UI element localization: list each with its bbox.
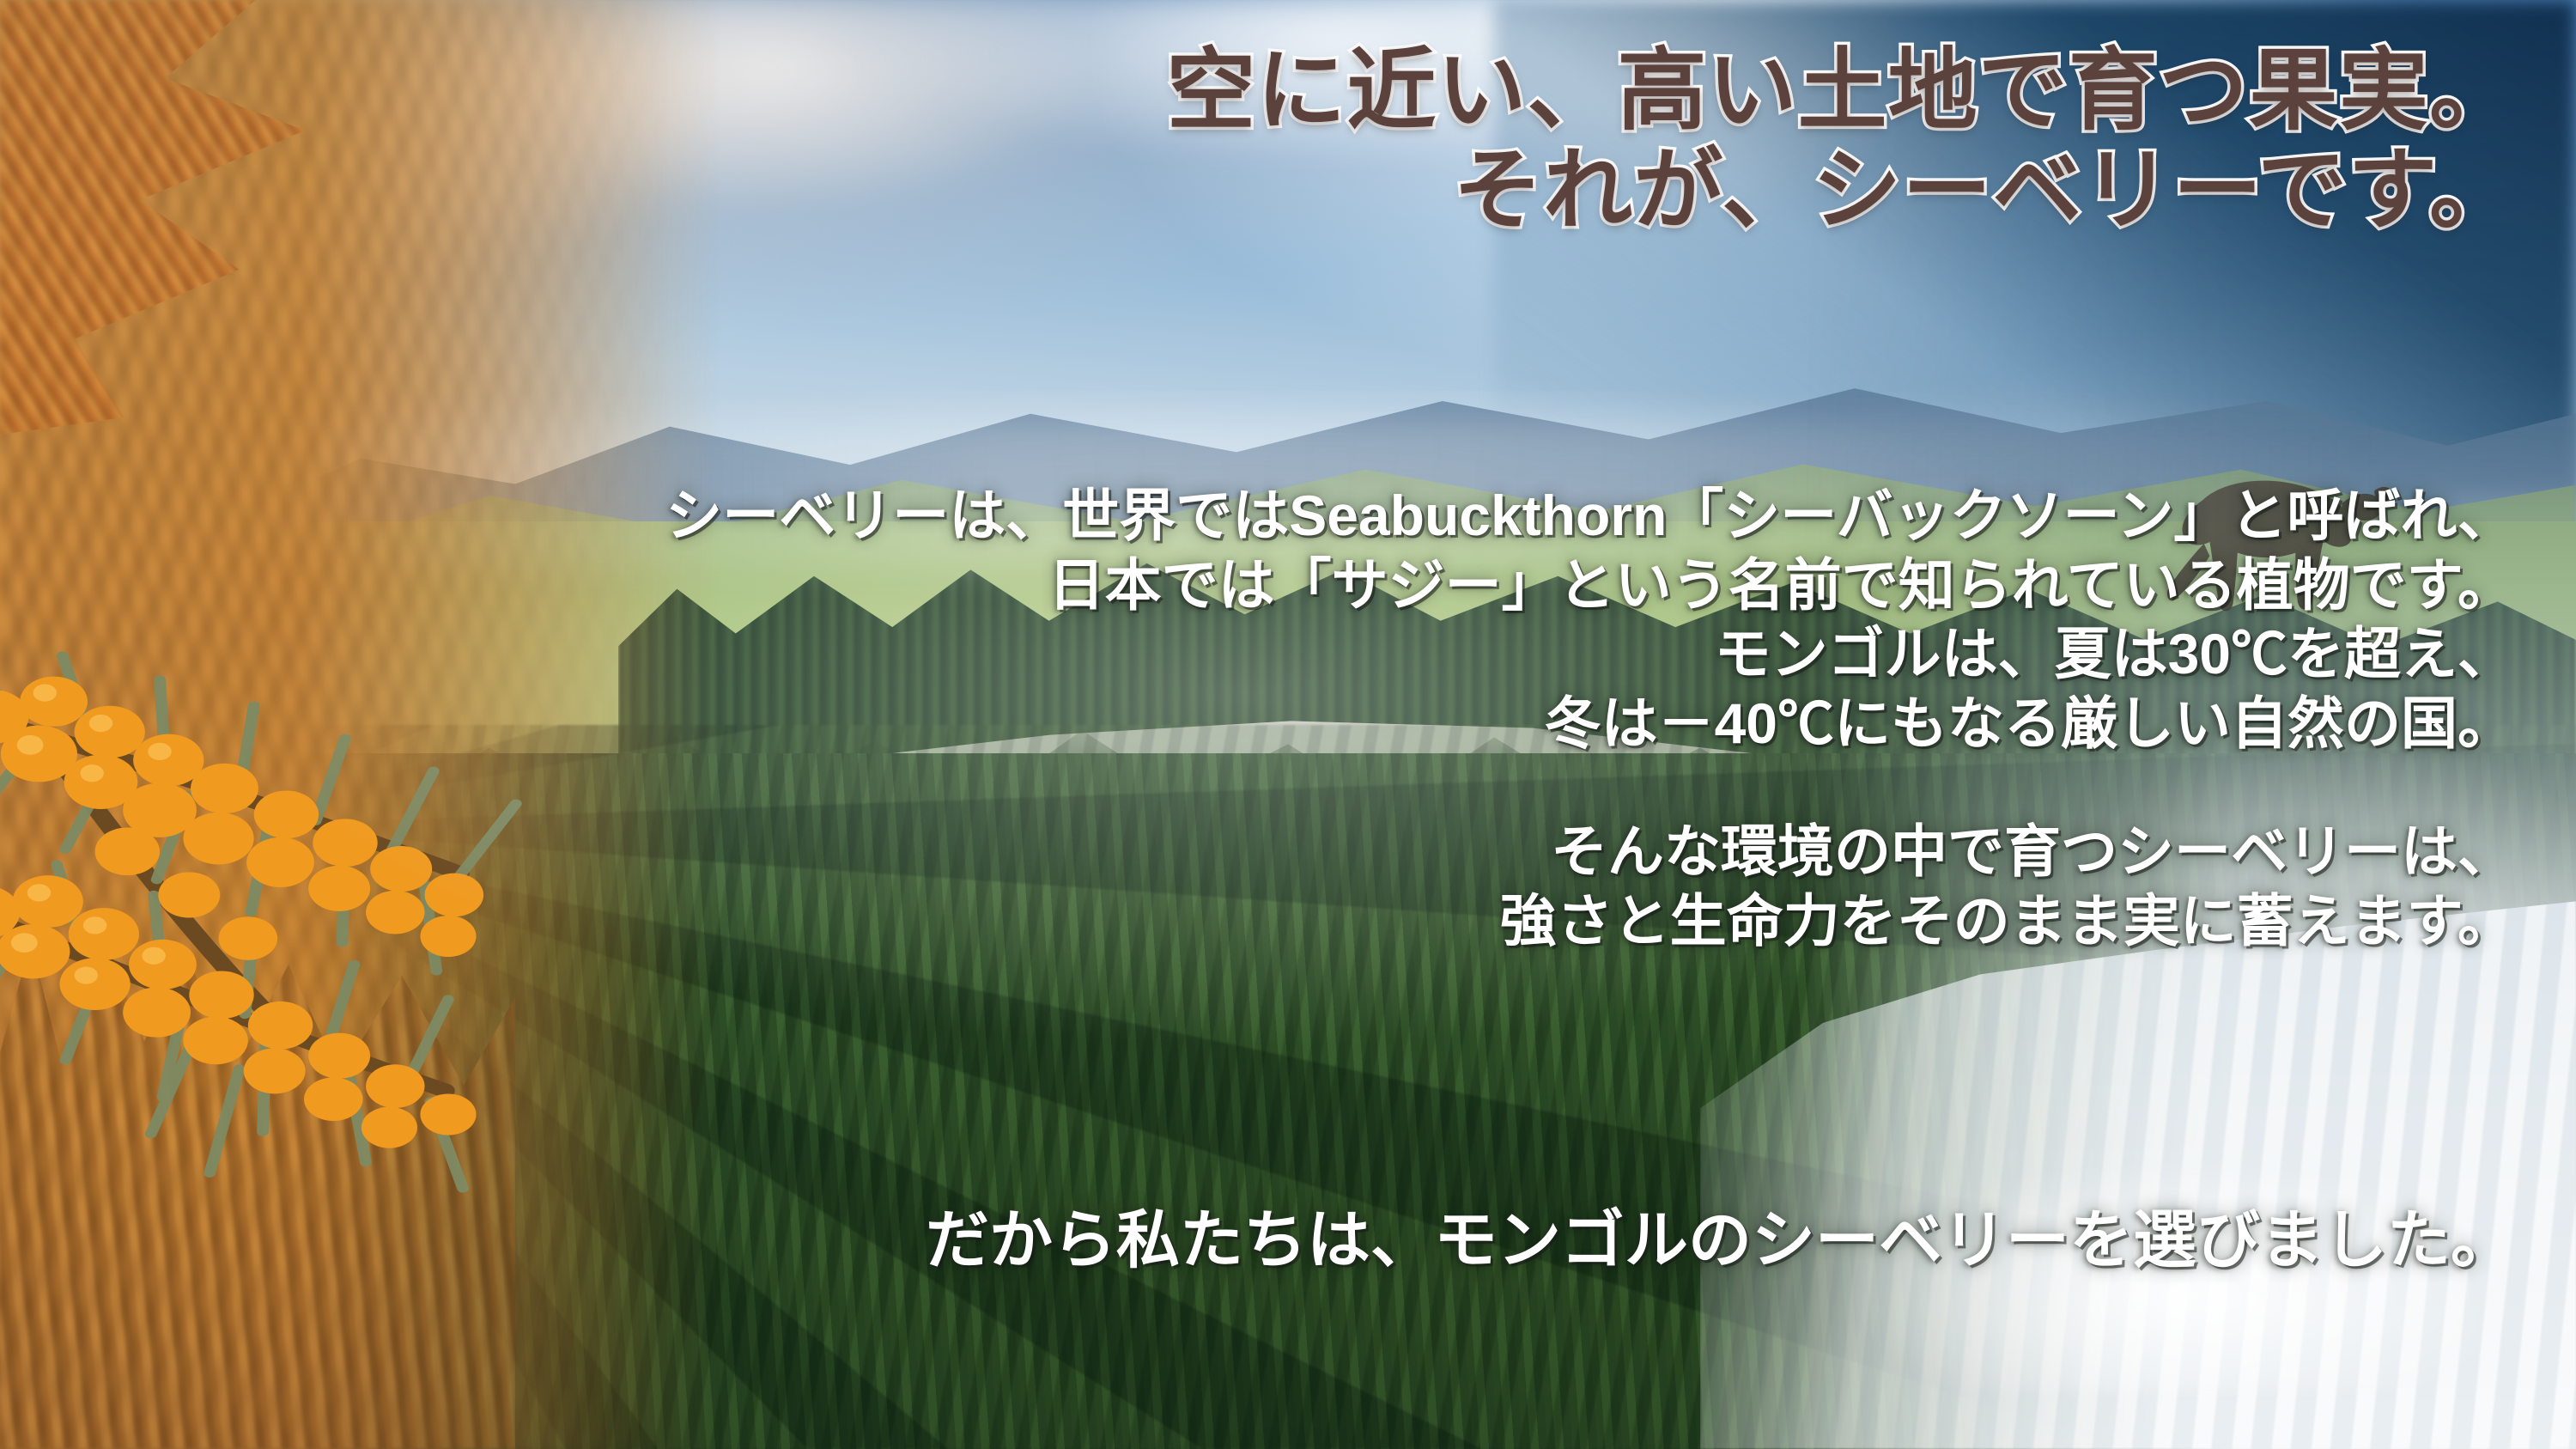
closing-statement: だから私たちは、モンゴルのシーベリーを選びました。 (52, 1202, 2514, 1279)
body-line-6: 強さと生命力をそのまま実に蓄えます。 (52, 886, 2514, 956)
page-title: 空に近い、高い土地で育つ果実。 それが、シーベリーです。 (0, 41, 2519, 241)
headline-line-2: それが、シーベリーです。 (0, 141, 2519, 240)
body-line-5: そんな環境の中で育つシーベリーは、 (52, 817, 2514, 886)
closing-line: だから私たちは、モンゴルのシーベリーを選びました。 (926, 1204, 2514, 1275)
paragraph-2: そんな環境の中で育つシーベリーは、 強さと生命力をそのまま実に蓄えます。 (52, 817, 2514, 955)
body-line-3: モンゴルは、夏は30℃を超え、 (52, 619, 2514, 689)
headline-line-1: 空に近い、高い土地で育つ果実。 (0, 41, 2519, 141)
body-line-2: 日本では「サジー」という名前で知られている植物です。 (52, 551, 2514, 620)
body-copy: シーベリーは、世界ではSeabuckthorn「シーバックソーン」と呼ばれ、 日… (52, 481, 2514, 955)
text-content: 空に近い、高い土地で育つ果実。 それが、シーベリーです。 シーベリーは、世界では… (0, 0, 2576, 1449)
paragraph-1: シーベリーは、世界ではSeabuckthorn「シーバックソーン」と呼ばれ、 日… (52, 481, 2514, 758)
body-line-1: シーベリーは、世界ではSeabuckthorn「シーバックソーン」と呼ばれ、 (52, 481, 2514, 551)
body-line-4: 冬は－40℃にもなる厳しい自然の国。 (52, 689, 2514, 758)
hero-banner: 空に近い、高い土地で育つ果実。 それが、シーベリーです。 シーベリーは、世界では… (0, 0, 2576, 1449)
